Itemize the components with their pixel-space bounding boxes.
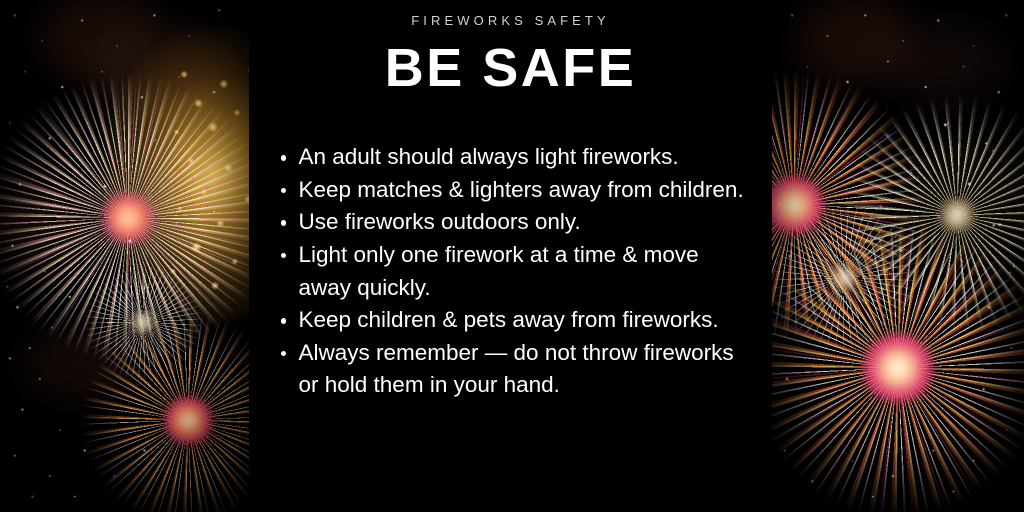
- smoke-haze: [40, 0, 160, 80]
- burst-rays: [83, 262, 203, 382]
- burst-core: [863, 333, 933, 403]
- left-fireworks-photo: [0, 0, 249, 512]
- burst-rays: [772, 70, 929, 340]
- burst-core: [164, 396, 212, 444]
- left-photo-canvas: [0, 0, 249, 512]
- smoke-haze: [792, 0, 912, 80]
- white-burst: [772, 203, 919, 353]
- orange-pink-burst: [772, 70, 929, 340]
- eyebrow-label: FIREWORKS SAFETY: [411, 13, 610, 28]
- page-title: BE SAFE: [385, 41, 637, 95]
- burst-rays: [0, 73, 249, 363]
- fireworks-safety-poster: FIREWORKS SAFETY BE SAFE An adult should…: [0, 0, 1024, 512]
- golden-cluster-glow: [100, 25, 249, 325]
- burst-core: [831, 265, 857, 291]
- burst-rays: [772, 203, 919, 353]
- burst-speckles: [25, 115, 235, 325]
- smoke-haze: [912, 140, 1024, 260]
- photo-vignette: [0, 0, 249, 512]
- content-panel: FIREWORKS SAFETY BE SAFE An adult should…: [249, 0, 772, 512]
- burst-rays: [837, 95, 1024, 335]
- sparkle-field: [0, 0, 249, 512]
- list-item: Use fireworks outdoors only.: [272, 206, 750, 239]
- main-orange-burst: [772, 218, 1024, 512]
- right-fireworks-photo: [772, 0, 1024, 512]
- list-item: An adult should always light fireworks.: [272, 141, 750, 174]
- smoke-haze: [20, 330, 140, 400]
- burst-rays: [81, 313, 250, 512]
- list-item: Keep children & pets away from fireworks…: [272, 304, 750, 337]
- smoke-haze: [95, 25, 235, 120]
- golden-cluster-dots: [160, 60, 249, 300]
- burst-core: [102, 192, 154, 244]
- safety-tips-list: An adult should always light fireworks. …: [272, 141, 750, 402]
- sparkle-field: [772, 0, 1024, 512]
- white-burst-small: [83, 262, 203, 382]
- burst-rays: [772, 218, 1024, 512]
- burst-rays-secondary: [772, 218, 1024, 512]
- burst-core: [940, 198, 974, 232]
- list-item: Light only one firework at a time & move…: [272, 239, 750, 304]
- burst-core: [132, 311, 154, 333]
- chrysanthemum-burst: [0, 73, 249, 363]
- smoke-haze: [0, 180, 105, 270]
- burst-rays-secondary: [0, 73, 249, 363]
- gold-white-burst: [837, 95, 1024, 335]
- burst-speckles: [857, 110, 1024, 295]
- smoke-haze: [882, 20, 1012, 100]
- list-item: Always remember — do not throw fireworks…: [272, 337, 750, 402]
- list-item: Keep matches & lighters away from childr…: [272, 174, 750, 207]
- burst-rays-secondary: [772, 70, 929, 340]
- burst-core: [772, 176, 823, 234]
- photo-vignette: [772, 0, 1024, 512]
- orange-burst: [81, 313, 250, 512]
- right-photo-canvas: [772, 0, 1024, 512]
